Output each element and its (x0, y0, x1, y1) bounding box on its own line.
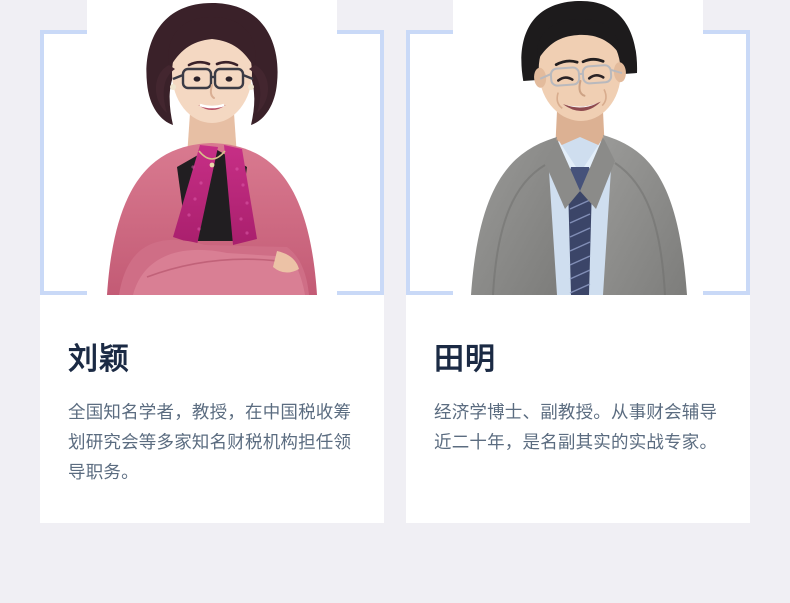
profile-info-panel: 刘颖 全国知名学者，教授，在中国税收筹划研究会等多家知名财税机构担任领导职务。 (40, 295, 384, 523)
person-bio: 全国知名学者，教授，在中国税收筹划研究会等多家知名财税机构担任领导职务。 (68, 397, 356, 487)
portrait-photo-male (453, 0, 703, 295)
person-name: 刘颖 (68, 345, 356, 375)
photo-frame-inner (410, 34, 746, 291)
profile-card-liu-ying[interactable]: 刘颖 全国知名学者，教授，在中国税收筹划研究会等多家知名财税机构担任领导职务。 (40, 30, 384, 523)
bottom-background-strip (0, 523, 790, 603)
person-name: 田明 (434, 345, 722, 375)
profile-info-panel: 田明 经济学博士、副教授。从事财会辅导近二十年，是名副其实的实战专家。 (406, 295, 750, 523)
profile-card-tian-ming[interactable]: 田明 经济学博士、副教授。从事财会辅导近二十年，是名副其实的实战专家。 (406, 30, 750, 523)
profiles-page: 刘颖 全国知名学者，教授，在中国税收筹划研究会等多家知名财税机构担任领导职务。 (0, 0, 790, 603)
person-bio: 经济学博士、副教授。从事财会辅导近二十年，是名副其实的实战专家。 (434, 397, 722, 457)
photo-frame (406, 30, 750, 295)
photo-frame (40, 30, 384, 295)
photo-frame-inner (44, 34, 380, 291)
portrait-photo-female (87, 0, 337, 295)
